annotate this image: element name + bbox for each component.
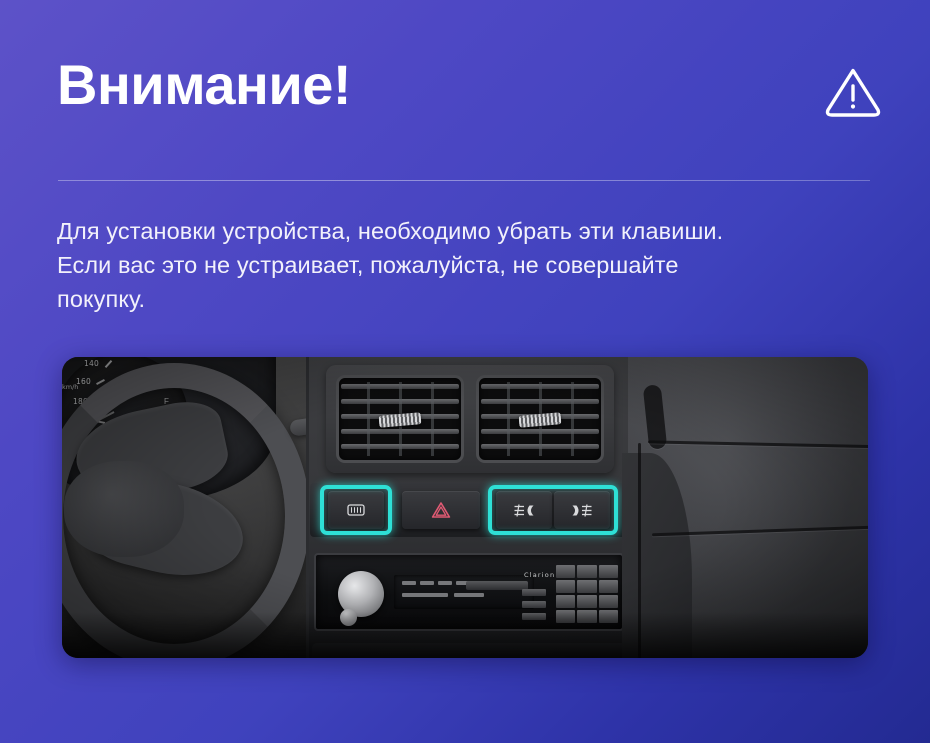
stereo-preset-button[interactable] <box>599 595 618 608</box>
car-dashboard-photo: km/h 140 160 180 200 F E C <box>62 357 868 658</box>
air-vent-surround <box>326 365 614 473</box>
secondary-knob[interactable] <box>340 609 357 626</box>
notice-line-3: покупку. <box>57 282 857 316</box>
stereo-preset-button[interactable] <box>599 565 618 578</box>
stereo-preset-button[interactable] <box>556 565 575 578</box>
stereo-preset-button[interactable] <box>577 610 596 623</box>
warning-banner-page: Внимание! Для установки устройства, необ… <box>0 0 930 743</box>
stereo-preset-button-grid[interactable] <box>556 565 618 623</box>
car-stereo-head-unit: Clarion <box>314 553 624 631</box>
cd-slot[interactable] <box>466 581 528 590</box>
stereo-preset-button[interactable] <box>599 580 618 593</box>
stereo-preset-button[interactable] <box>577 595 596 608</box>
console-edge-seam <box>638 443 641 658</box>
front-fog-icon <box>513 504 535 517</box>
stereo-side-button[interactable] <box>522 589 546 596</box>
stereo-preset-button[interactable] <box>556 580 575 593</box>
gauge-tick-140: 140 <box>84 359 99 368</box>
stereo-preset-button[interactable] <box>556 595 575 608</box>
dashboard-button-strip <box>310 483 630 537</box>
rear-fog-light-button[interactable] <box>554 491 610 529</box>
stereo-preset-button[interactable] <box>556 610 575 623</box>
air-vent-adjuster-left[interactable] <box>379 412 422 428</box>
stereo-preset-button[interactable] <box>577 580 596 593</box>
defroster-icon <box>347 504 365 516</box>
gauge-tick-160: 160 <box>76 377 91 386</box>
air-vent-left <box>336 375 464 463</box>
stereo-preset-button[interactable] <box>599 610 618 623</box>
hazard-triangle-icon <box>431 501 451 519</box>
front-fog-light-button[interactable] <box>496 491 552 529</box>
stereo-preset-button[interactable] <box>577 565 596 578</box>
rear-fog-icon <box>571 504 593 517</box>
steering-wheel-hub <box>64 461 184 557</box>
notice-line-2: Если вас это не устраивает, пожалуйста, … <box>57 248 857 282</box>
stereo-brand-label: Clarion <box>524 571 555 579</box>
warning-triangle-icon <box>823 62 883 122</box>
stereo-side-button[interactable] <box>522 613 546 620</box>
page-title: Внимание! <box>57 56 351 115</box>
notice-text: Для установки устройства, необходимо убр… <box>57 214 857 316</box>
air-vent-adjuster-right[interactable] <box>519 412 562 428</box>
rear-defroster-button[interactable] <box>328 491 384 529</box>
header: Внимание! <box>0 0 930 182</box>
gauge-tick-mark <box>105 360 113 368</box>
console-tray <box>312 643 626 658</box>
header-divider <box>58 180 870 181</box>
hazard-lights-button[interactable] <box>402 491 480 529</box>
notice-line-1: Для установки устройства, необходимо убр… <box>57 214 857 248</box>
stereo-side-button[interactable] <box>522 601 546 608</box>
air-vent-right <box>476 375 604 463</box>
